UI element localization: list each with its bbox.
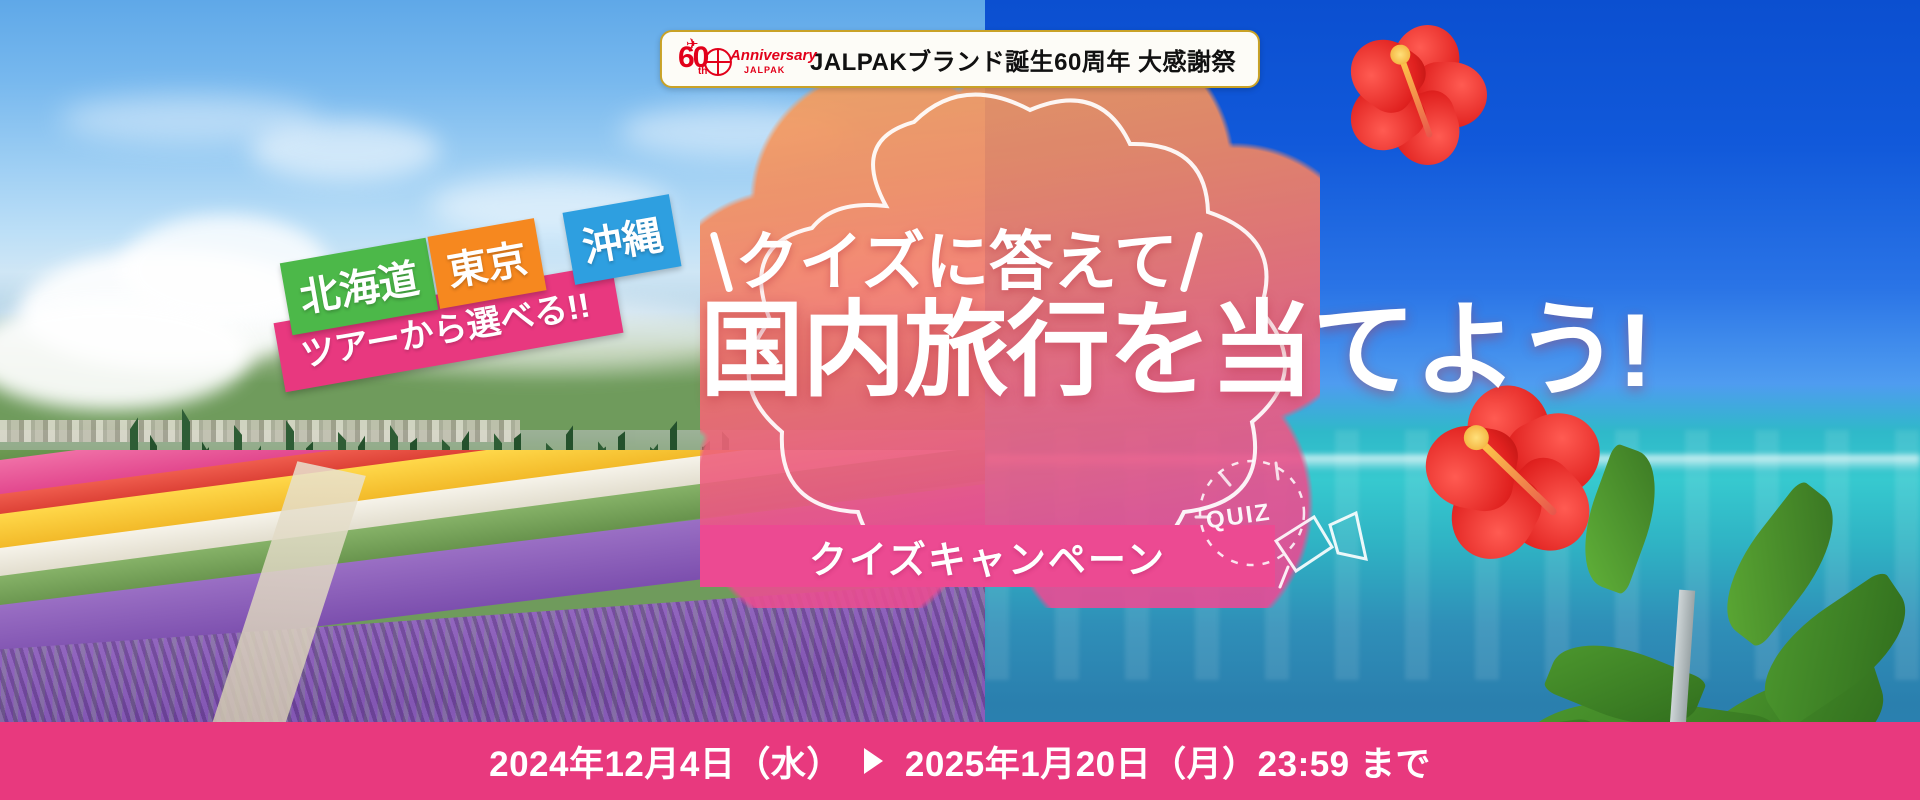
headline-group: クイズに答えて 国内旅行を当てよう! xyxy=(700,230,1560,404)
subtitle-text: クイズキャンペーン xyxy=(809,529,1166,584)
slash-left-icon xyxy=(710,231,734,293)
cloud-icon xyxy=(60,95,320,143)
campaign-banner: ツアーから選べる!! 北海道 東京 沖縄 クイズに答えて 国内旅行を当てよう! … xyxy=(0,0,1920,800)
headline-line2: 国内旅行を当てよう! xyxy=(700,298,1560,404)
campaign-period-bar: 2024年12月4日（水） 2025年1月20日（月）23:59 まで xyxy=(0,722,1920,800)
headline-line1-row: クイズに答えて xyxy=(718,230,1560,294)
slash-right-icon xyxy=(1179,231,1203,293)
headline-line1: クイズに答えて xyxy=(735,230,1178,294)
period-end: 2025年1月20日（月）23:59 まで xyxy=(905,736,1431,787)
anniversary-brand: JALPAK xyxy=(744,65,785,75)
airplane-icon: ✈ xyxy=(686,37,732,53)
arrow-right-icon xyxy=(864,748,883,774)
quiz-megaphone-doodle: QUIZ xyxy=(1180,455,1380,605)
anniversary-badge: 60 ✈ th Anniversary JALPAK JALPAKブランド誕生6… xyxy=(660,30,1260,88)
anniversary-ordinal: th xyxy=(698,66,707,77)
jalpak-60th-logo: 60 ✈ th Anniversary JALPAK xyxy=(678,39,796,79)
anniversary-word: Anniversary xyxy=(730,47,817,64)
hibiscus-flower-icon xyxy=(1320,0,1509,189)
period-start: 2024年12月4日（水） xyxy=(489,736,842,787)
badge-text: JALPAKブランド誕生60周年 大感謝祭 xyxy=(810,42,1236,77)
